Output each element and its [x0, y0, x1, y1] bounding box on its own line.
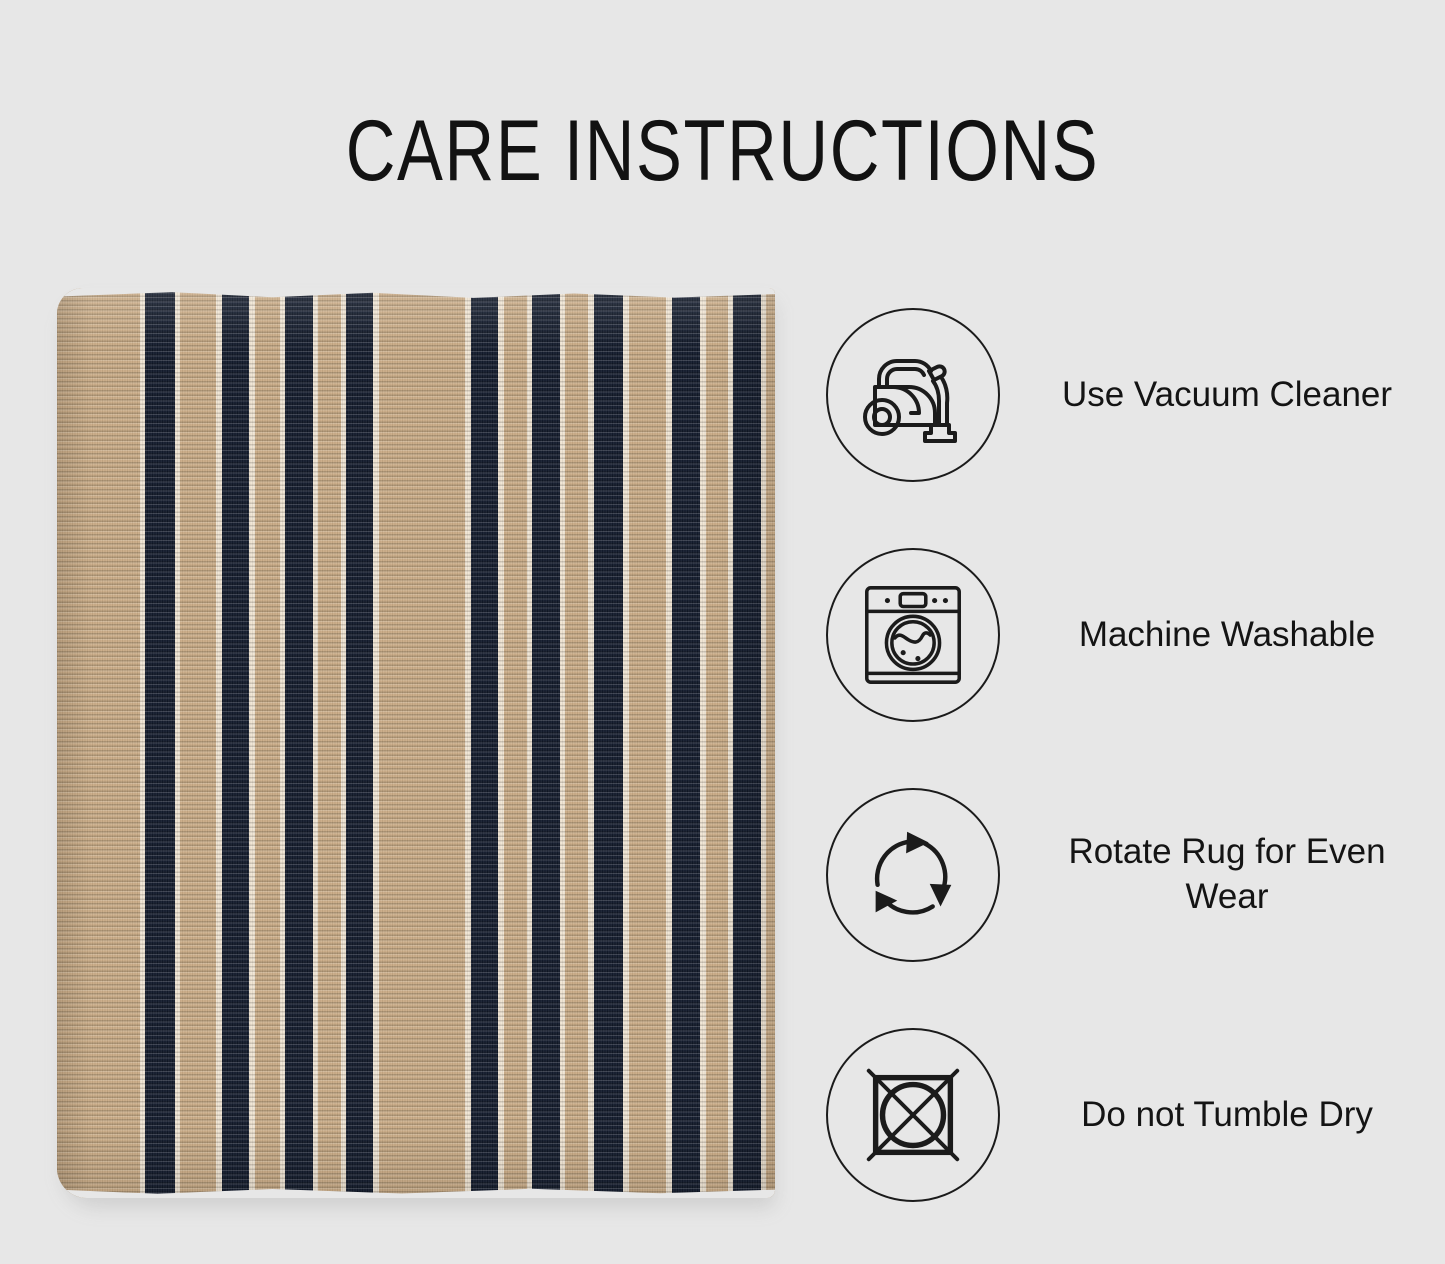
instruction-label-rotate: Rotate Rug for Even Wear: [1036, 830, 1426, 920]
rug-stripe: [222, 288, 249, 1198]
rug-stripe: [180, 288, 216, 1198]
rug-stripe: [57, 288, 140, 1198]
rotate-arrows-icon: [854, 816, 972, 934]
rug-stripe: [504, 288, 527, 1198]
icon-circle-rotate: [826, 788, 1000, 962]
rotate-arrowhead-top: [906, 832, 929, 854]
rug-stripe: [318, 288, 340, 1198]
rug-stripe: [629, 288, 666, 1198]
rug-stripe: [565, 288, 588, 1198]
icon-circle-vacuum: [826, 308, 1000, 482]
instruction-row-no-tumble-dry: Do not Tumble Dry: [826, 1027, 1426, 1203]
instruction-row-vacuum: Use Vacuum Cleaner: [826, 307, 1426, 483]
rug-stripe: [255, 288, 279, 1198]
rug-stripe: [145, 288, 174, 1198]
rug-stripe: [532, 288, 559, 1198]
rug-stripe: [594, 288, 623, 1198]
rug-stripe: [471, 288, 498, 1198]
rug-stripe: [706, 288, 728, 1198]
rug-stripe-pattern: [57, 288, 775, 1198]
rug-stripe: [346, 288, 373, 1198]
instruction-row-rotate: Rotate Rug for Even Wear: [826, 787, 1426, 963]
instruction-row-machine-wash: Machine Washable: [826, 547, 1426, 723]
instruction-label-no-tumble-dry: Do not Tumble Dry: [1036, 1093, 1426, 1138]
rug-stripe: [379, 288, 465, 1198]
instruction-label-machine-wash: Machine Washable: [1036, 613, 1426, 658]
page-title: CARE INSTRUCTIONS: [145, 108, 1301, 194]
instruction-label-vacuum: Use Vacuum Cleaner: [1036, 373, 1426, 418]
vacuum-cleaner-icon: [853, 335, 973, 455]
rug-surface: [57, 288, 775, 1198]
rug-stripe: [285, 288, 312, 1198]
icon-circle-machine-wash: [826, 548, 1000, 722]
no-tumble-dry-icon: [854, 1056, 972, 1174]
rug-stripe: [766, 288, 775, 1198]
rotate-arrowhead-right: [930, 884, 952, 907]
product-image-striped-rug: [57, 288, 775, 1206]
rug-stripe: [672, 288, 701, 1198]
rug-stripe: [733, 288, 760, 1198]
washing-machine-icon: [854, 576, 972, 694]
icon-circle-no-tumble-dry: [826, 1028, 1000, 1202]
